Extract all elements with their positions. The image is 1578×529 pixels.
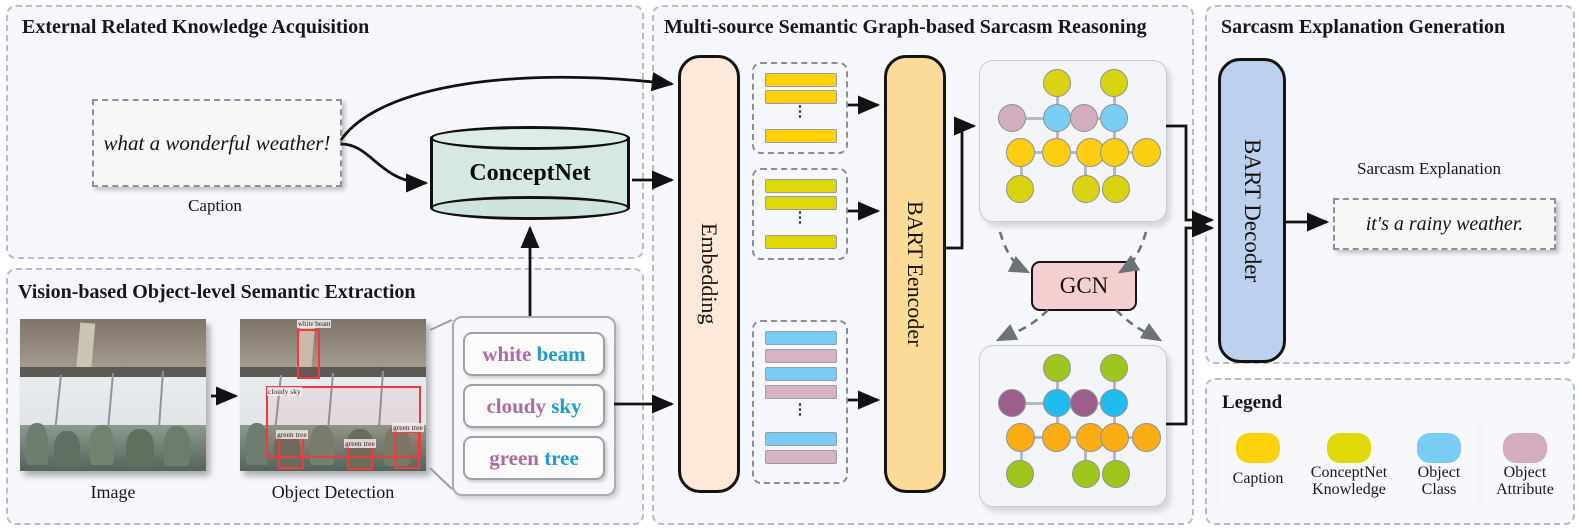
token-caption-3	[765, 129, 837, 143]
detection-box-green-tree-1	[278, 437, 304, 469]
legend-label-caption: Caption	[1218, 470, 1298, 487]
gcn-label: GCN	[1060, 273, 1109, 299]
detection-label-green-tree-3: green tree	[392, 423, 424, 432]
object-class-tree: tree	[544, 446, 579, 471]
image-tree-5	[164, 426, 190, 466]
architecture-diagram: External Related Knowledge Acquisition w…	[0, 0, 1578, 529]
legend-swatch-object-class	[1417, 433, 1461, 463]
graph-node-knowledge	[1043, 69, 1071, 97]
object-detection-label: Object Detection	[240, 482, 426, 503]
graph-node-caption	[1006, 138, 1035, 167]
token-object-attr-1	[765, 349, 837, 363]
sarcasm-explanation-title: Sarcasm Explanation	[1300, 159, 1558, 179]
input-image-label: Image	[20, 482, 206, 503]
token-group-knowledge: ⋮	[752, 168, 848, 260]
conceptnet-cylinder: ConceptNet	[430, 126, 630, 220]
token-caption-2	[765, 90, 837, 104]
image-tree-2	[54, 431, 80, 467]
embedding-block: Embedding	[678, 55, 740, 493]
legend-label-object-class: Object Class	[1400, 464, 1478, 499]
token-object-class-1	[765, 331, 837, 345]
graph-node-attribute-updated	[998, 389, 1026, 417]
graph-node-caption-updated	[1132, 423, 1161, 452]
panel-generation-title: Sarcasm Explanation Generation	[1221, 16, 1505, 39]
image-tree-3	[90, 425, 114, 465]
bart-encoder-block: BART Eencoder	[884, 55, 946, 493]
legend-swatch-object-attribute	[1503, 433, 1547, 463]
graph-node-knowledge	[1102, 175, 1130, 203]
object-attribute-cloudy: cloudy	[486, 394, 546, 419]
sarcasm-explanation-box: it's a rainy weather.	[1333, 198, 1556, 250]
legend-item-object-attribute: Object Attribute	[1483, 424, 1567, 506]
panel-reasoning-title: Multi-source Semantic Graph-based Sarcas…	[664, 16, 1147, 39]
graph-node-caption	[1042, 138, 1071, 167]
gcn-block: GCN	[1031, 261, 1137, 311]
legend-item-object-class: Object Class	[1400, 424, 1478, 506]
graph-node-knowledge-updated	[1102, 460, 1130, 488]
object-card-white-beam: white beam	[463, 332, 605, 376]
updated-semantic-graph	[979, 345, 1167, 507]
caption-box: what a wonderful weather!	[92, 99, 342, 187]
object-card-cloudy-sky: cloudy sky	[463, 384, 605, 428]
detection-box-green-tree-3	[394, 431, 420, 469]
bart-encoder-label: BART Eencoder	[902, 201, 928, 347]
token-caption-1	[765, 73, 837, 87]
detection-box-white-beam	[297, 329, 320, 379]
graph-node-caption	[1132, 138, 1161, 167]
legend-item-conceptnet-knowledge: ConceptNet Knowledge	[1303, 424, 1395, 506]
graph-node-knowledge	[1006, 175, 1034, 203]
graph-node-knowledge	[1100, 69, 1128, 97]
token-object-attr-3	[765, 450, 837, 464]
image-tree-1	[26, 423, 48, 465]
token-knowledge-2	[765, 196, 837, 210]
graph-node-caption-updated	[1042, 423, 1071, 452]
sarcasm-explanation-text: it's a rainy weather.	[1366, 213, 1524, 236]
object-class-beam: beam	[537, 342, 586, 367]
graph-node-class-updated	[1100, 389, 1128, 417]
token-object-class-3	[765, 432, 837, 446]
detection-label-cloudy-sky: cloudy sky	[267, 387, 302, 396]
graph-node-knowledge	[1072, 175, 1100, 203]
panel-knowledge-title: External Related Knowledge Acquisition	[22, 16, 369, 39]
graph-node-knowledge-updated	[1006, 460, 1034, 488]
image-tree-4	[126, 429, 154, 467]
object-class-sky: sky	[551, 394, 581, 419]
graph-node-caption-updated	[1100, 423, 1129, 452]
token-knowledge-3	[765, 235, 837, 249]
graph-node-class	[1043, 104, 1071, 132]
input-image	[20, 319, 206, 471]
detection-label-green-tree-2: green tree	[344, 439, 376, 448]
graph-node-attribute	[998, 104, 1026, 132]
graph-node-attribute-updated	[1070, 389, 1098, 417]
graph-node-knowledge-updated	[1100, 354, 1128, 382]
token-object-attr-2	[765, 385, 837, 399]
graph-node-knowledge-updated	[1043, 354, 1071, 382]
legend-swatch-caption	[1236, 433, 1280, 463]
token-knowledge-1	[765, 179, 837, 193]
bart-decoder-block: BART Decoder	[1218, 58, 1286, 363]
conceptnet-label: ConceptNet	[430, 126, 630, 220]
object-detection-image: white beam cloudy sky green tree green t…	[240, 319, 426, 471]
legend-label-object-attribute: Object Attribute	[1483, 464, 1567, 499]
legend-title: Legend	[1222, 392, 1282, 414]
legend-label-conceptnet-knowledge: ConceptNet Knowledge	[1303, 464, 1395, 499]
object-attribute-green: green	[489, 446, 539, 471]
graph-node-caption	[1100, 138, 1129, 167]
detection-label-white-beam: white beam	[297, 320, 331, 328]
caption-text: what a wonderful weather!	[104, 130, 331, 156]
detection-tree-1	[246, 423, 268, 465]
graph-node-caption-updated	[1006, 423, 1035, 452]
token-group-caption: ⋮	[752, 62, 848, 154]
bart-decoder-label: BART Decoder	[1239, 139, 1265, 282]
object-card-green-tree: green tree	[463, 436, 605, 480]
graph-node-class-updated	[1043, 389, 1071, 417]
input-semantic-graph	[979, 60, 1167, 222]
object-attribute-white: white	[482, 342, 531, 367]
caption-label: Caption	[92, 196, 338, 216]
token-group-objects: ⋮	[752, 320, 848, 484]
token-object-class-2	[765, 367, 837, 381]
token-caption-ellipsis: ⋮	[754, 108, 846, 116]
detection-label-green-tree-1: green tree	[276, 430, 308, 439]
graph-node-knowledge-updated	[1072, 460, 1100, 488]
token-object-ellipsis: ⋮	[754, 406, 846, 414]
graph-node-attribute	[1070, 104, 1098, 132]
graph-node-class	[1100, 104, 1128, 132]
embedding-label: Embedding	[696, 223, 722, 324]
token-knowledge-ellipsis: ⋮	[754, 214, 846, 222]
legend-swatch-conceptnet-knowledge	[1327, 433, 1371, 463]
panel-vision-title: Vision-based Object-level Semantic Extra…	[18, 281, 416, 304]
legend-item-caption: Caption	[1218, 424, 1298, 506]
